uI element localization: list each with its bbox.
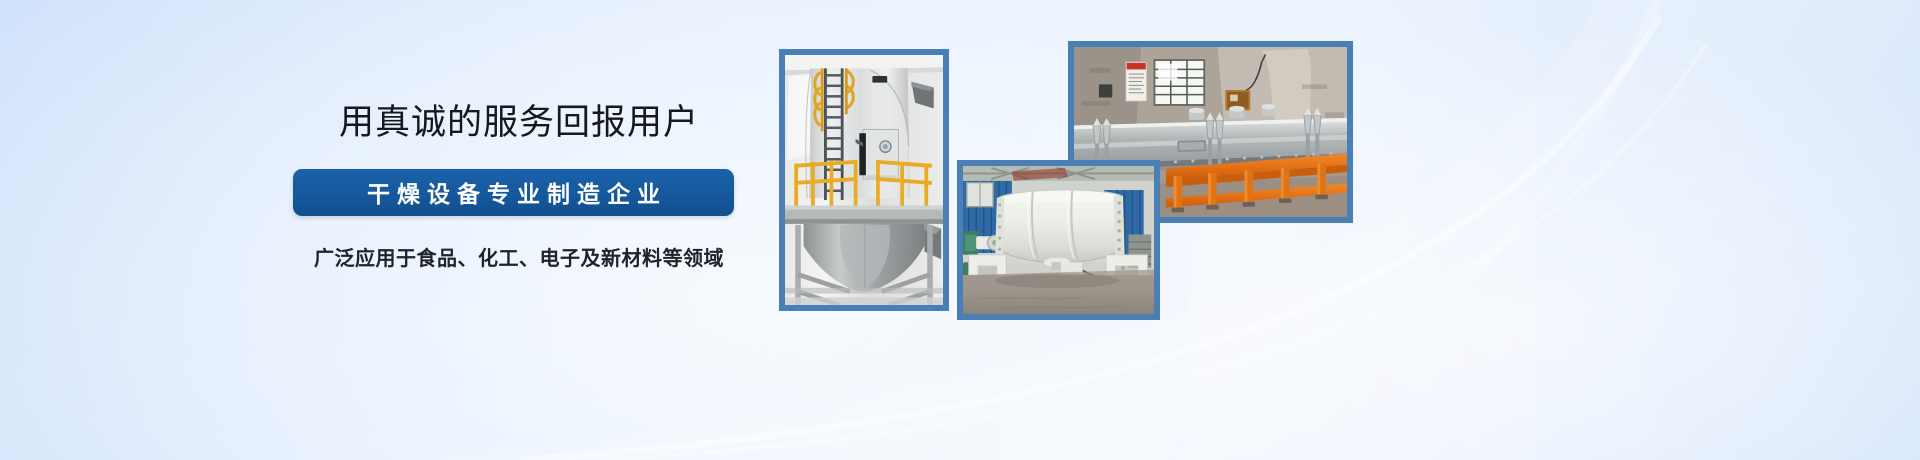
banner-badge: 干燥设备专业制造企业 bbox=[293, 169, 734, 216]
photo-spray-dryer-tower[interactable] bbox=[779, 49, 949, 311]
ribbon-mixer-illustration bbox=[963, 166, 1154, 314]
banner-subline: 广泛应用于食品、化工、电子及新材料等领域 bbox=[293, 242, 745, 271]
banner-badge-label: 干燥设备专业制造企业 bbox=[360, 175, 667, 209]
banner-text-block: 用真诚的服务回报用户 干燥设备专业制造企业 广泛应用于食品、化工、电子及新材料等… bbox=[293, 104, 745, 271]
banner-headline: 用真诚的服务回报用户 bbox=[293, 104, 745, 143]
photo-ribbon-mixer[interactable] bbox=[957, 160, 1160, 320]
hero-banner: 用真诚的服务回报用户 干燥设备专业制造企业 广泛应用于食品、化工、电子及新材料等… bbox=[0, 0, 1920, 460]
spray-dryer-tower-illustration bbox=[785, 55, 943, 305]
